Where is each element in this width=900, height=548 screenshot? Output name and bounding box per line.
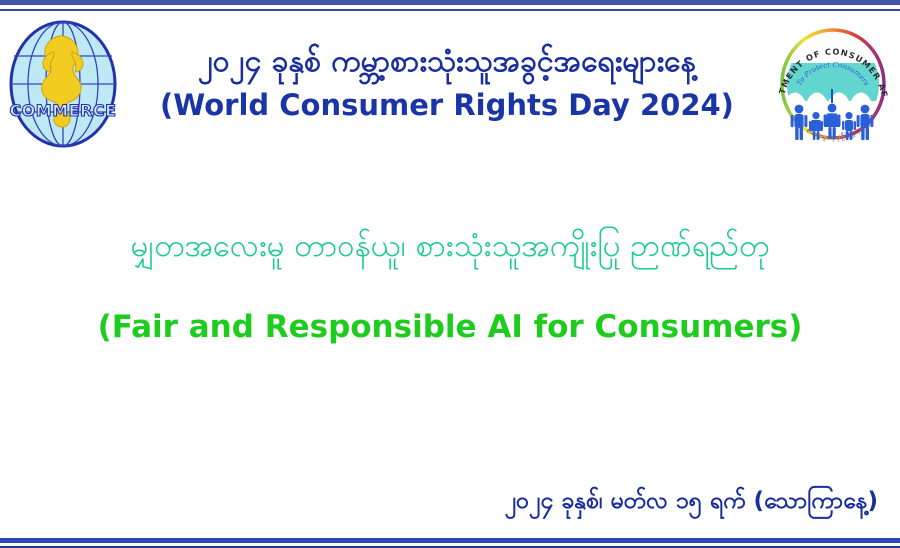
ministry-of-commerce-logo: COMMERCE xyxy=(4,16,122,152)
slogan-english: (Fair and Responsible AI for Consumers) xyxy=(0,309,900,346)
poster-header: COMMERCE ၂၀၂၄ ခုနှစ် ကမ္ဘာ့စားသုံးသူအခွင… xyxy=(0,11,900,156)
bottom-border-rule xyxy=(0,538,900,548)
header-title-block: ၂၀၂၄ ခုနှစ် ကမ္ဘာ့စားသုံးသူအခွင့်အရေးမျာ… xyxy=(122,47,772,120)
top-border-rule xyxy=(0,0,900,11)
slogan-burmese: မျှတအလေးမူ တာဝန်ယူ၊ စားသုံးသူအကျိုးပြု ဉ… xyxy=(0,228,900,265)
event-dateline: ၂၀၂၄ ခုနှစ်၊ မတ်လ ၁၅ ရက် (သောကြာနေ့) xyxy=(505,486,878,520)
slogan-block: မျှတအလေးမူ တာဝန်ယူ၊ စားသုံးသူအကျိုးပြု ဉ… xyxy=(0,228,900,346)
commerce-logo-caption: COMMERCE xyxy=(9,101,116,120)
page-title-burmese: ၂၀၂၄ ခုနှစ် ကမ္ဘာ့စားသုံးသူအခွင့်အရေးမျာ… xyxy=(128,47,766,77)
department-of-consumer-affairs-logo: DEPARTMENT OF CONSUMER AFFAIRS To Protec… xyxy=(772,19,894,149)
poster-canvas: COMMERCE ၂၀၂၄ ခုနှစ် ကမ္ဘာ့စားသုံးသူအခွင… xyxy=(0,0,900,548)
page-title-english: (World Consumer Rights Day 2024) xyxy=(128,91,766,120)
